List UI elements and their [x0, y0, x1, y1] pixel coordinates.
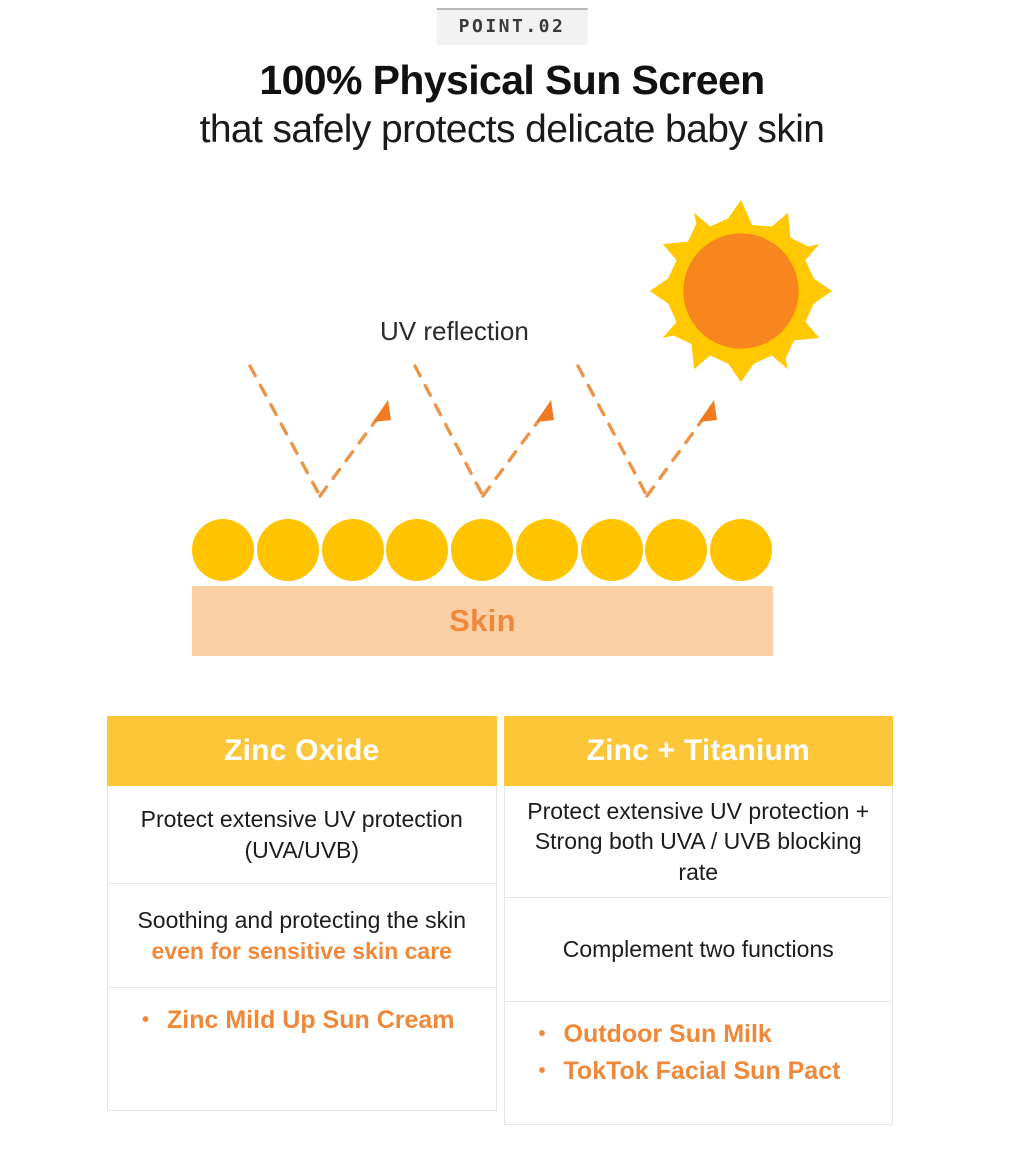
column-header-zinc-oxide: Zinc Oxide [107, 716, 497, 786]
table-cell: Protect extensive UV protection + Strong… [504, 786, 894, 898]
list-item: • Zinc Mild Up Sun Cream [142, 1002, 476, 1039]
product-name: Zinc Mild Up Sun Cream [167, 1002, 455, 1039]
bullet-icon: • [539, 1061, 546, 1081]
product-name: TokTok Facial Sun Pact [564, 1053, 841, 1090]
uv-reflection-diagram: UV reflection [0, 180, 1024, 680]
ray-2-incoming [415, 366, 483, 496]
skin-layer-band: Skin [192, 586, 773, 656]
ray-2-arrowhead [536, 400, 554, 422]
particle-circle [645, 519, 707, 581]
ray-1-reflected [320, 412, 382, 496]
particle-circle [257, 519, 319, 581]
product-name: Outdoor Sun Milk [564, 1016, 772, 1053]
page-title: 100% Physical Sun Screen that safely pro… [0, 56, 1024, 155]
point-badge: POINT.02 [437, 8, 588, 45]
particle-circle [386, 519, 448, 581]
ray-3-reflected [647, 412, 708, 496]
particle-circle [322, 519, 384, 581]
cell-text-plain: Soothing and protecting the skin [137, 907, 466, 933]
particle-circle [516, 519, 578, 581]
infographic-page: POINT.02 100% Physical Sun Screen that s… [0, 0, 1024, 1150]
uv-reflection-label: UV reflection [380, 316, 529, 347]
ray-2-reflected [483, 412, 545, 496]
comparison-table: Zinc Oxide Protect extensive UV protecti… [107, 716, 893, 1125]
bullet-icon: • [142, 1010, 149, 1030]
table-column-zinc-titanium: Zinc + Titanium Protect extensive UV pro… [504, 716, 894, 1125]
ray-3-incoming [578, 366, 647, 496]
headline-main: 100% Physical Sun Screen [0, 56, 1024, 104]
ray-1-arrowhead [373, 400, 391, 422]
column-header-zinc-titanium: Zinc + Titanium [504, 716, 894, 786]
particle-circle [710, 519, 772, 581]
sunscreen-particle-row [192, 517, 772, 583]
list-item: • TokTok Facial Sun Pact [539, 1053, 873, 1090]
list-item: • Outdoor Sun Milk [539, 1016, 873, 1053]
sun-core-shape [683, 233, 798, 348]
table-column-zinc-oxide: Zinc Oxide Protect extensive UV protecti… [107, 716, 497, 1125]
ray-1-incoming [250, 366, 320, 496]
skin-layer-label: Skin [449, 603, 516, 639]
cell-text-highlight: even for sensitive skin care [152, 938, 452, 964]
headline-sub: that safely protects delicate baby skin [0, 106, 1024, 155]
table-cell: Protect extensive UV protection (UVA/UVB… [107, 786, 497, 884]
table-cell: Soothing and protecting the skin even fo… [107, 884, 497, 988]
particle-circle [192, 519, 254, 581]
table-cell-product-list: • Zinc Mild Up Sun Cream [107, 988, 497, 1111]
bullet-icon: • [539, 1024, 546, 1044]
uv-ray-arrows [230, 350, 750, 525]
ray-3-arrowhead [699, 400, 717, 422]
table-cell: Complement two functions [504, 898, 894, 1002]
table-cell-product-list: • Outdoor Sun Milk • TokTok Facial Sun P… [504, 1002, 894, 1125]
particle-circle [451, 519, 513, 581]
particle-circle [581, 519, 643, 581]
